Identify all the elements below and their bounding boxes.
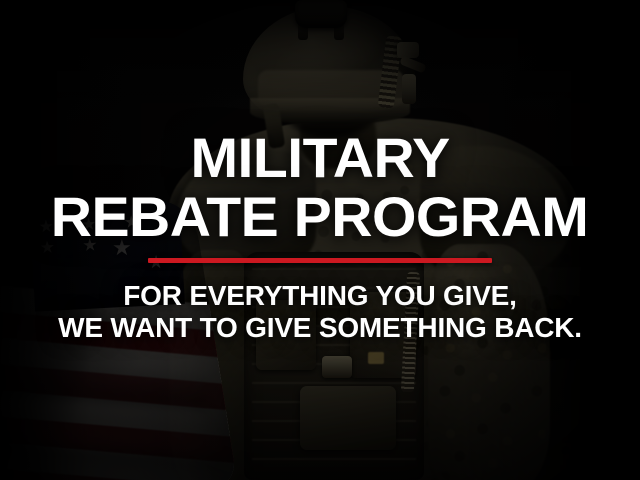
subheadline-line-1: FOR EVERYTHING YOU GIVE, bbox=[123, 281, 517, 311]
subheadline-line-2: WE WANT TO GIVE SOMETHING BACK. bbox=[58, 313, 582, 343]
headline-line-2: REBATE PROGRAM bbox=[51, 190, 589, 244]
text-content: MILITARY REBATE PROGRAM FOR EVERYTHING Y… bbox=[0, 0, 640, 480]
military-rebate-banner: ★ ★ ★ ★ ★ ★ ★ MILITARY REBATE PROGRAM FO… bbox=[0, 0, 640, 480]
red-divider-rule bbox=[148, 258, 492, 263]
headline-line-1: MILITARY bbox=[190, 131, 449, 185]
